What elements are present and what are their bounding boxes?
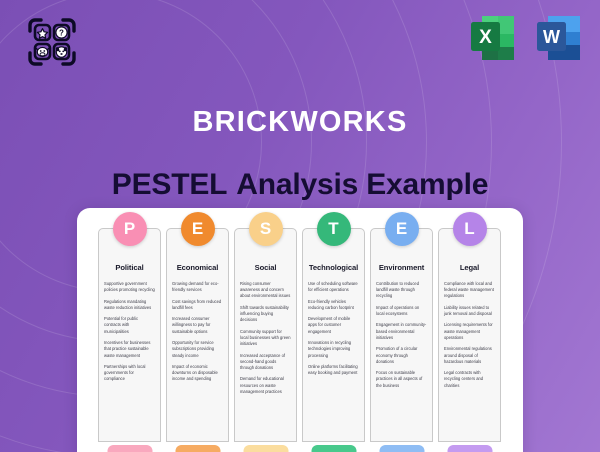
column-points: Compliance with local and federal waste …	[444, 281, 495, 389]
column-points: Growing demand for eco-friendly services…	[172, 281, 223, 383]
column-title: Economical	[172, 263, 223, 272]
column-badge: T	[317, 212, 351, 246]
column-points: Supportive government policies promoting…	[104, 281, 155, 383]
column-title: Environment	[376, 263, 427, 272]
word-letter: W	[543, 27, 560, 47]
column-point: Eco-friendly vehicles reducing carbon fo…	[308, 299, 359, 311]
cow-icon	[35, 44, 50, 59]
column-point: Supportive government policies promoting…	[104, 281, 155, 293]
star-icon	[35, 25, 50, 40]
page-title-part2: Analysis Example	[236, 168, 488, 201]
pestel-column-political[interactable]: PPoliticalSupportive government policies…	[98, 228, 161, 442]
column-point: Promotion of a circular economy through …	[376, 346, 427, 365]
column-title: Social	[240, 263, 291, 272]
user-circle-icon	[243, 445, 288, 452]
pestel-column-legal[interactable]: LLegalCompliance with local and federal …	[438, 228, 501, 442]
column-badge: P	[113, 212, 147, 246]
column-point: Increased consumer willingness to pay fo…	[172, 316, 223, 335]
column-point: Liability issues related to junk removal…	[444, 305, 495, 317]
column-point: Focus on sustainable practices in all as…	[376, 370, 427, 389]
column-point: Rising consumer awareness and concern ab…	[240, 281, 291, 300]
word-icon[interactable]: W	[532, 10, 586, 64]
column-point: Online platforms facilitating easy booki…	[308, 364, 359, 376]
brand-title: BRICKWORKS	[0, 106, 600, 139]
slide-canvas: ?	[0, 0, 600, 452]
pestel-column-economical[interactable]: EEconomicalGrowing demand for eco-friend…	[166, 228, 229, 442]
column-point: Opportunity for service subscriptions pr…	[172, 340, 223, 359]
column-point: Environmental regulations around disposa…	[444, 346, 495, 365]
column-points: Rising consumer awareness and concern ab…	[240, 281, 291, 395]
person-badge-icon	[107, 445, 152, 452]
gear-icon	[311, 445, 356, 452]
column-point: Partnerships with local governments for …	[104, 364, 155, 383]
column-point: Impact of operations on local ecosystems	[376, 305, 427, 317]
column-point: Impact of economic downturns on disposab…	[172, 364, 223, 383]
excel-letter: X	[479, 27, 492, 48]
brand-logo[interactable]: ?	[24, 14, 80, 70]
column-point: Compliance with local and federal waste …	[444, 281, 495, 300]
office-app-icons: X W	[466, 10, 586, 64]
column-point: Engagement in community-based environmen…	[376, 322, 427, 341]
question-mark-icon: ?	[54, 25, 69, 40]
dog-icon	[54, 44, 69, 59]
column-badge: E	[181, 212, 215, 246]
column-point: Incentives for businesses that practice …	[104, 340, 155, 359]
column-points: Use of scheduling software for efficient…	[308, 281, 359, 376]
column-point: Increased acceptance of second-hand good…	[240, 353, 291, 372]
column-point: Shift towards sustainability influencing…	[240, 305, 291, 324]
column-badge: S	[249, 212, 283, 246]
column-title: Legal	[444, 263, 495, 272]
leaf-icon	[379, 445, 424, 452]
briefcase-icon	[447, 445, 492, 452]
column-point: Potential for public contracts with muni…	[104, 316, 155, 335]
pestel-column-environment[interactable]: EEnvironmentContribution to reduced land…	[370, 228, 433, 442]
column-point: Use of scheduling software for efficient…	[308, 281, 359, 293]
bar-chart-icon	[175, 445, 220, 452]
column-point: Cost savings from reduced landfill fees	[172, 299, 223, 311]
column-point: Demand for educational resources on wast…	[240, 376, 291, 395]
column-badge: L	[453, 212, 487, 246]
column-point: Growing demand for eco-friendly services	[172, 281, 223, 293]
column-point: Innovations in recycling technologies im…	[308, 340, 359, 359]
pestel-column-social[interactable]: SSocialRising consumer awareness and con…	[234, 228, 297, 442]
svg-text:?: ?	[59, 28, 64, 37]
excel-icon[interactable]: X	[466, 10, 520, 64]
logo-frame-icon: ?	[24, 14, 80, 70]
page-title-part1: PESTEL	[112, 168, 228, 201]
column-point: Development of mobile apps for customer …	[308, 316, 359, 335]
column-point: Community support for local businesses w…	[240, 329, 291, 348]
column-point: Regulations mandating waste reduction in…	[104, 299, 155, 311]
column-point: Legal contracts with recycling centers a…	[444, 370, 495, 389]
column-badge: E	[385, 212, 419, 246]
column-point: Licensing requirements for waste managem…	[444, 322, 495, 341]
column-title: Political	[104, 263, 155, 272]
pestel-column-technological[interactable]: TTechnologicalUse of scheduling software…	[302, 228, 365, 442]
column-points: Contribution to reduced landfill waste t…	[376, 281, 427, 389]
pestel-columns: PPoliticalSupportive government policies…	[98, 228, 501, 442]
page-title: PESTELAnalysis Example	[0, 168, 600, 202]
pestel-card: PPoliticalSupportive government policies…	[77, 208, 523, 452]
column-point: Contribution to reduced landfill waste t…	[376, 281, 427, 300]
column-title: Technological	[308, 263, 359, 272]
